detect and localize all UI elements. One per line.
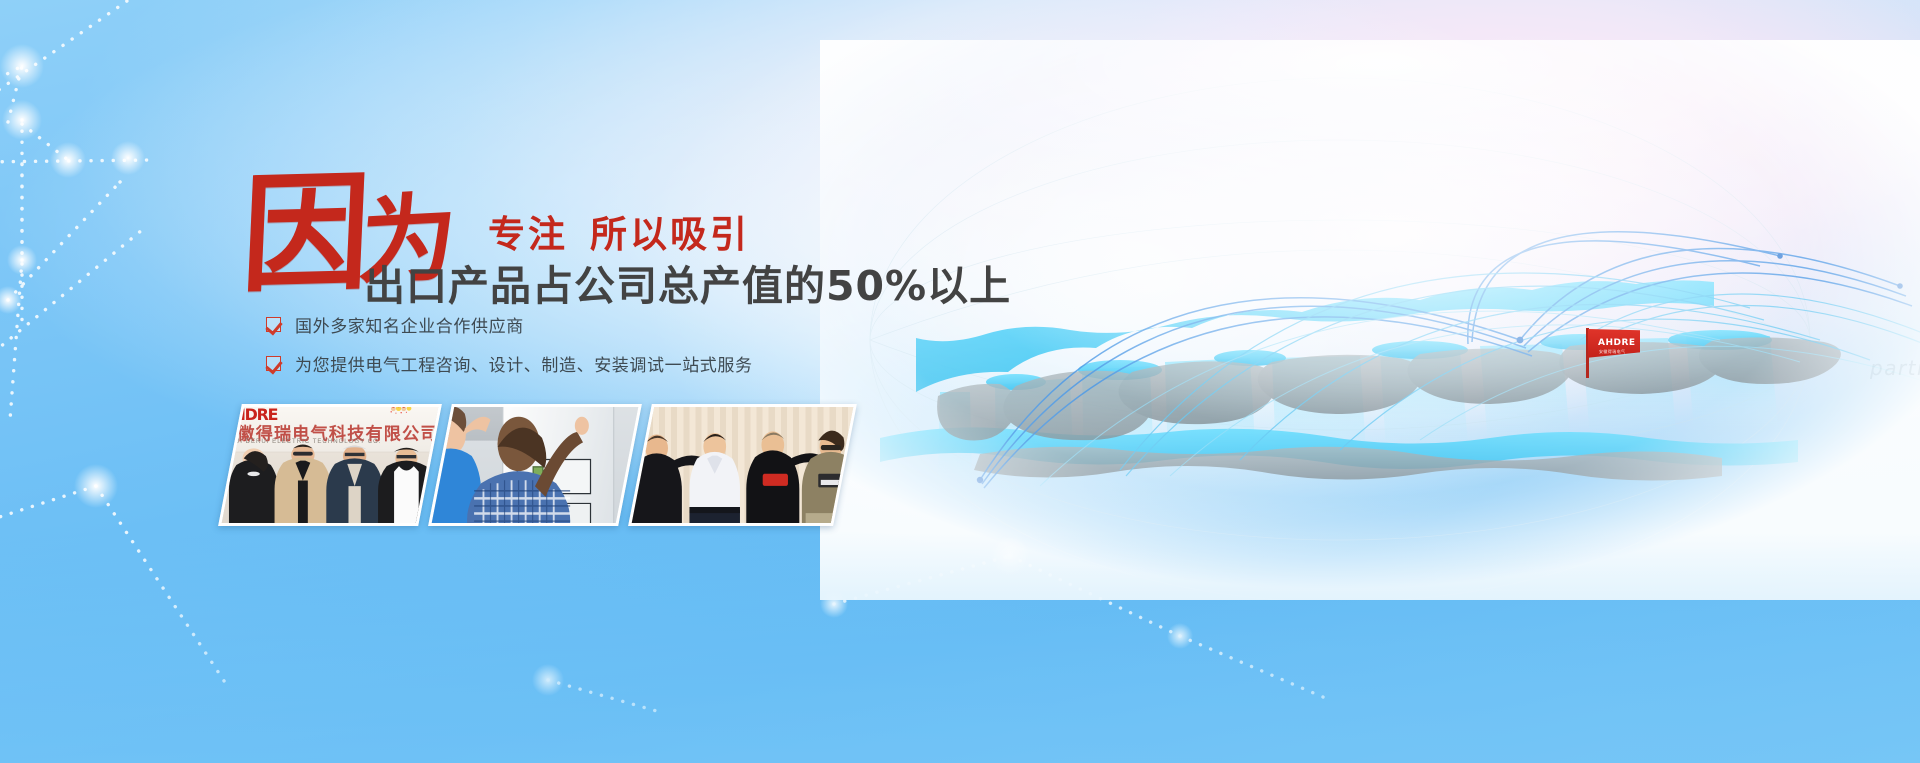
list-item: 国外多家知名企业合作供应商 [266, 312, 753, 337]
photo-1-inner: AHDRE 安徽得瑞电气科技有限公司 ANHUI DERUI ELECTRIC … [218, 404, 442, 526]
photo-2-inner [428, 404, 642, 526]
photo-3-inner [628, 404, 857, 526]
calligraphy-char-yin: 因 [239, 168, 373, 299]
headline-line-2: 出口产品占公司总产值的50%以上 [364, 252, 1011, 312]
promo-banner: ION partners of multiple nationalities A… [0, 0, 1920, 763]
photo-1-festive-decor [360, 404, 442, 417]
photo-1-people [218, 441, 442, 526]
feature-bullet-list: 国外多家知名企业合作供应商 为您提供电气工程咨询、设计、制造、安装调试一站式服务 [266, 312, 753, 390]
photo-group-at-company-banner[interactable]: AHDRE 安徽得瑞电气科技有限公司 ANHUI DERUI ELECTRIC … [218, 404, 442, 526]
list-item: 为您提供电气工程咨询、设计、制造、安装调试一站式服务 [266, 351, 753, 376]
headline-line-1-part-2: 所以吸引 [590, 213, 750, 256]
checkbox-checked-icon [266, 356, 281, 371]
photo-team-outdoors[interactable] [628, 404, 857, 526]
checkbox-checked-icon [266, 317, 281, 332]
bullet-label: 国外多家知名企业合作供应商 [295, 312, 524, 337]
headline-line-1-part-1: 专注 [488, 213, 568, 256]
photo-engineers-inspecting-cabinet[interactable] [428, 404, 642, 526]
banner-content: 因 为 专注所以吸引 出口产品占公司总产值的50%以上 国外多家知名企业合作供应… [0, 0, 1920, 763]
photo-strip: AHDRE 安徽得瑞电气科技有限公司 ANHUI DERUI ELECTRIC … [228, 404, 848, 526]
photo-3-people [628, 429, 857, 526]
headline-line-1: 专注所以吸引 [488, 204, 750, 258]
bullet-label: 为您提供电气工程咨询、设计、制造、安装调试一站式服务 [295, 351, 753, 376]
headline-block: 因 为 专注所以吸引 出口产品占公司总产值的50%以上 [236, 168, 996, 308]
photo-2-people [428, 404, 642, 526]
